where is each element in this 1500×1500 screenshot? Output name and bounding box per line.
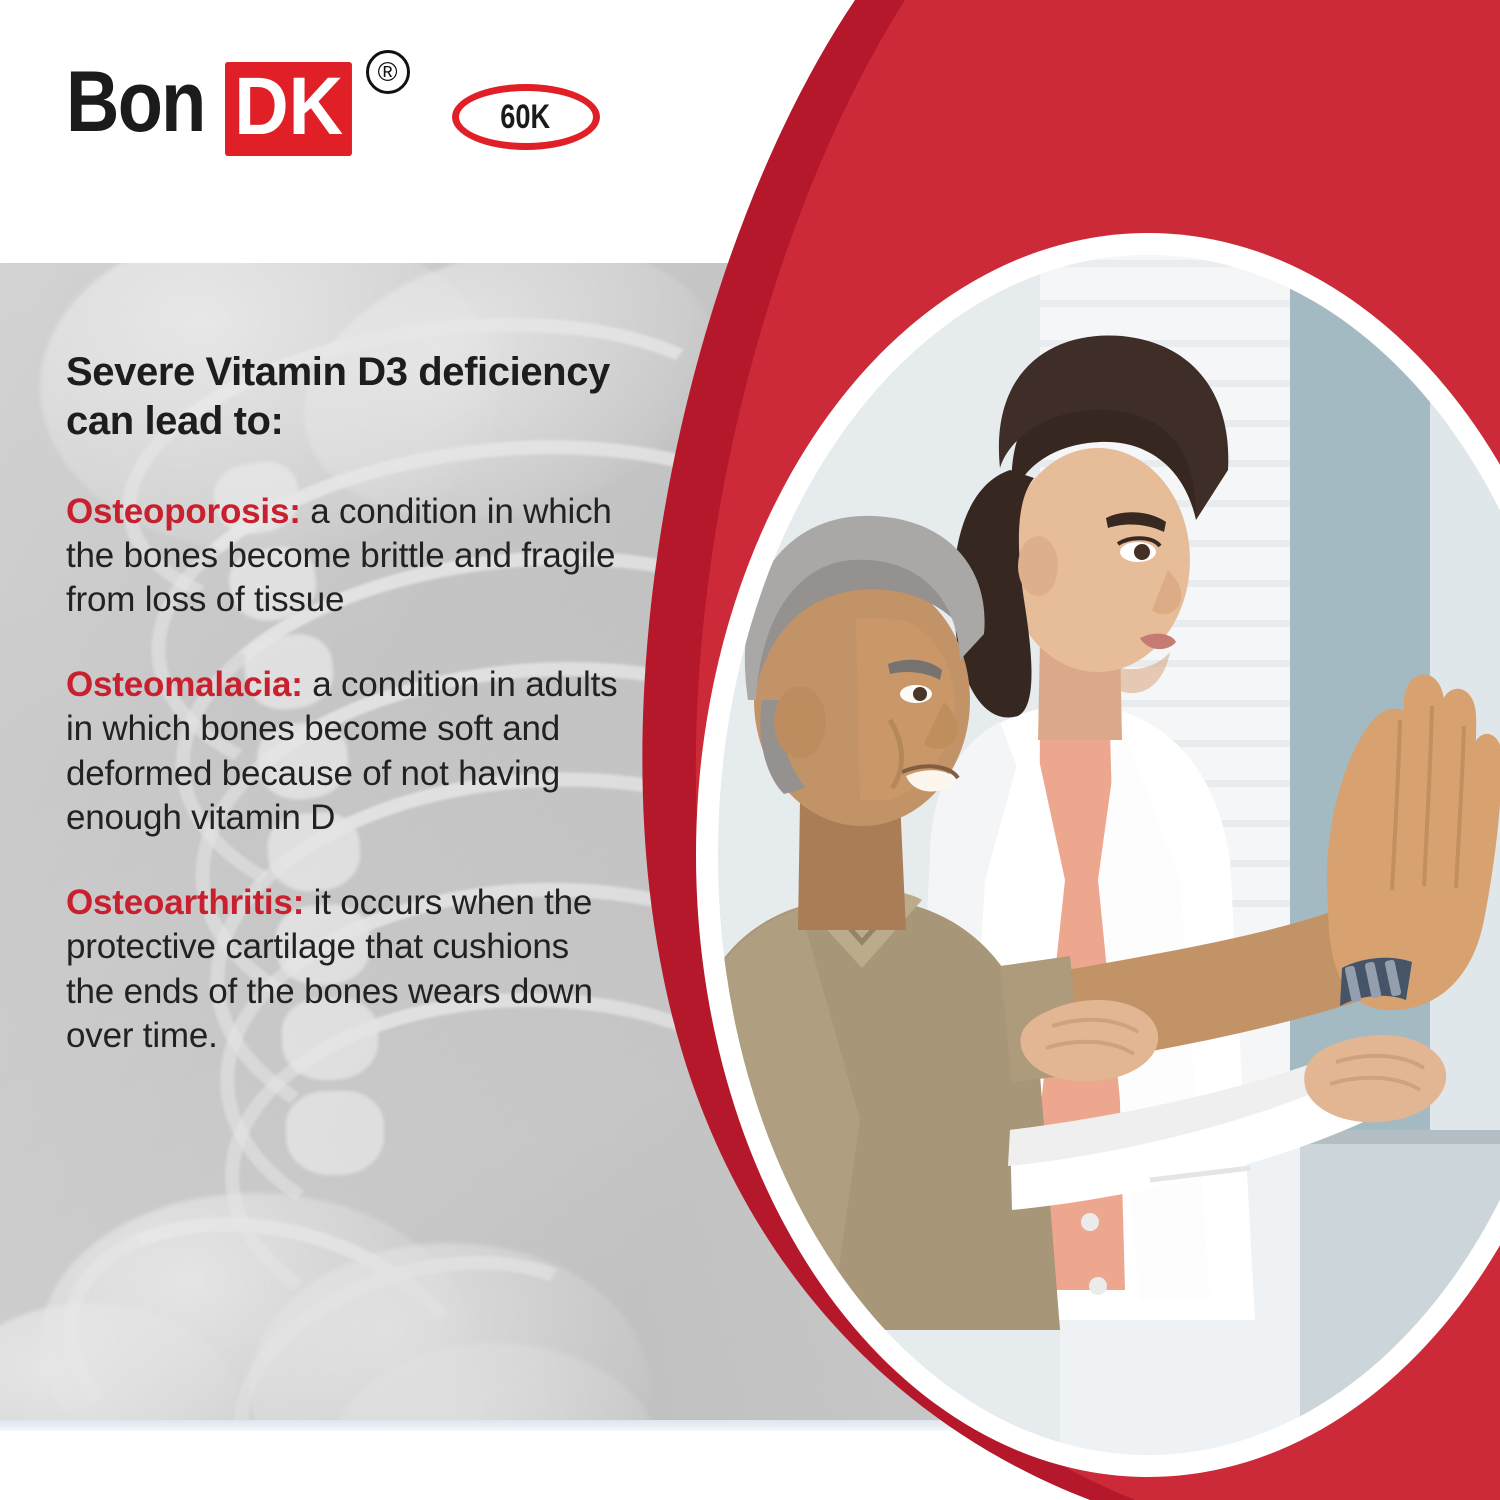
condition-term: Osteomalacia: [66, 665, 303, 704]
logo-dk-badge: DK ® [225, 62, 363, 156]
condition-item: Osteomalacia: a condition in adults in w… [66, 663, 626, 841]
strength-badge: 60K [452, 84, 600, 150]
brand-logo[interactable]: Bon DK ® 60K [66, 62, 600, 156]
panel-bottom-rule [0, 1420, 1020, 1431]
condition-term: Osteoporosis: [66, 492, 301, 531]
condition-item: Osteoarthritis: it occurs when the prote… [66, 881, 626, 1059]
logo-bon-text: Bon [66, 62, 205, 144]
poster-canvas: Bon DK ® 60K Severe Vitamin D3 deficienc… [0, 0, 1500, 1500]
condition-term: Osteoarthritis: [66, 883, 304, 922]
registered-trademark-icon: ® [366, 50, 410, 94]
page-title: Severe Vitamin D3 deficiency can lead to… [66, 348, 626, 446]
logo-dk-text: DK [225, 62, 352, 156]
strength-badge-label: 60K [501, 98, 551, 137]
condition-item: Osteoporosis: a condition in which the b… [66, 490, 626, 623]
info-content: Severe Vitamin D3 deficiency can lead to… [66, 348, 626, 1058]
